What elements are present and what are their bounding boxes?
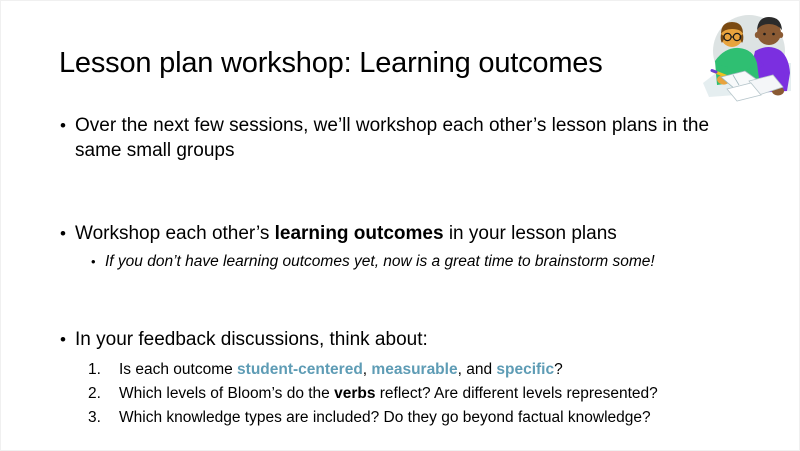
accent-specific: specific: [496, 361, 554, 378]
list-item-number: 2.: [88, 382, 110, 406]
list-item-text-4: ?: [554, 361, 563, 378]
list-item-text-3: , and: [458, 361, 497, 378]
sub-bullet-marker-icon: •: [91, 251, 96, 272]
numbered-list: 1.Is each outcome student-centered, meas…: [59, 358, 749, 430]
bullet-text: Over the next few sessions, we’ll worksh…: [75, 115, 709, 161]
accent-student-centered: student-centered: [237, 361, 363, 378]
sub-bullet-item-brainstorm: • If you don’t have learning outcomes ye…: [91, 251, 749, 272]
bullet-text-lead: Workshop each other’s: [75, 223, 275, 244]
sub-bullet-text: If you don’t have learning outcomes yet,…: [105, 253, 655, 270]
bullet-block-1: • Over the next few sessions, we’ll work…: [59, 113, 749, 163]
list-item-text-2: reflect? Are different levels represente…: [375, 385, 657, 402]
list-item-number: 3.: [88, 406, 110, 430]
list-item: 3.Which knowledge types are included? Do…: [59, 406, 749, 430]
bullet-marker-icon: •: [60, 113, 66, 138]
two-people-collaborating-illustration: [699, 5, 795, 103]
page-title: Lesson plan workshop: Learning outcomes: [59, 45, 603, 81]
accent-measurable: measurable: [371, 361, 457, 378]
bullet-item-sessions: • Over the next few sessions, we’ll work…: [59, 113, 749, 163]
bullet-text-tail: in your lesson plans: [444, 223, 617, 244]
list-item: 2.Which levels of Bloom’s do the verbs r…: [59, 382, 749, 406]
bullet-block-3: • In your feedback discussions, think ab…: [59, 327, 749, 430]
slide: Lesson plan workshop: Learning outcomes: [0, 0, 800, 451]
list-item: 1.Is each outcome student-centered, meas…: [59, 358, 749, 382]
bullet-item-workshop-outcomes: •Workshop each other’s learning outcomes…: [59, 221, 749, 246]
bullet-marker-icon: •: [60, 327, 66, 352]
list-item-text-1: Is each outcome: [119, 361, 237, 378]
list-item-number: 1.: [88, 358, 110, 382]
bullet-text: In your feedback discussions, think abou…: [75, 329, 428, 350]
bullet-block-2: •Workshop each other’s learning outcomes…: [59, 221, 749, 272]
slide-body: • Over the next few sessions, we’ll work…: [59, 113, 749, 430]
list-item-text-1: Which levels of Bloom’s do the: [119, 385, 334, 402]
bullet-item-feedback-discussions: • In your feedback discussions, think ab…: [59, 327, 749, 352]
list-item-text-1: Which knowledge types are included? Do t…: [119, 409, 651, 426]
bullet-text-emphasis: learning outcomes: [275, 223, 444, 244]
bullet-marker-icon: •: [60, 221, 66, 246]
list-item-emphasis-verbs: verbs: [334, 385, 375, 402]
